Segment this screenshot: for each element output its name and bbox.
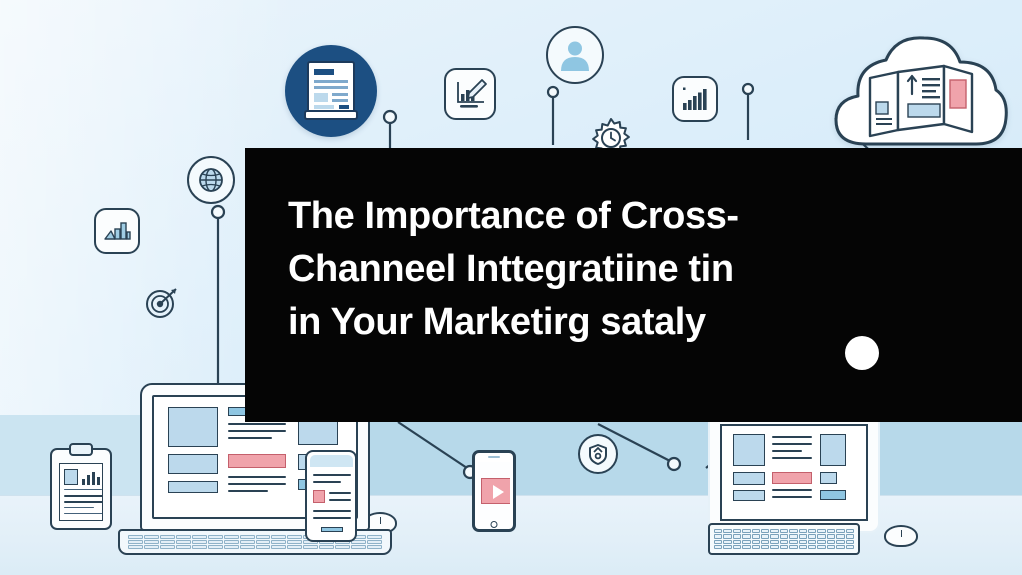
user-avatar-icon [546, 26, 604, 84]
bar-chart-small-icon [94, 208, 140, 254]
phone-screen [478, 462, 510, 520]
tablet-statusbar [310, 455, 353, 467]
phone-home-button[interactable] [491, 521, 498, 528]
banner-accent-dot [845, 336, 879, 370]
title-banner: The Importance of Cross- Channeel Intteg… [245, 148, 1022, 422]
target-icon [142, 282, 182, 322]
clipboard-page [59, 463, 103, 521]
clipboard-clip [69, 443, 93, 456]
phone-body [472, 450, 516, 532]
document-badge-icon [285, 45, 377, 137]
clipboard-body [50, 448, 112, 530]
illustration-stage: The Importance of Cross- Channeel Intteg… [0, 0, 1022, 575]
cloud-brochure-icon [820, 26, 1016, 156]
bar-chart-icon [672, 76, 718, 122]
monitor-screen [720, 424, 868, 521]
keyboard-keys [714, 529, 854, 549]
globe-icon [187, 156, 235, 204]
keyboard-body[interactable] [708, 523, 860, 555]
mouse-body-right[interactable] [884, 525, 918, 547]
shield-icon [578, 434, 618, 474]
play-icon[interactable] [493, 485, 504, 499]
banner-headline: The Importance of Cross- Channeel Intteg… [288, 190, 888, 349]
tablet-body [305, 450, 357, 542]
monitor-bezel [708, 413, 880, 533]
video-thumbnail[interactable] [481, 478, 510, 504]
chart-editor-icon [444, 68, 496, 120]
document-icon [301, 59, 361, 123]
phone-speaker [488, 456, 500, 458]
